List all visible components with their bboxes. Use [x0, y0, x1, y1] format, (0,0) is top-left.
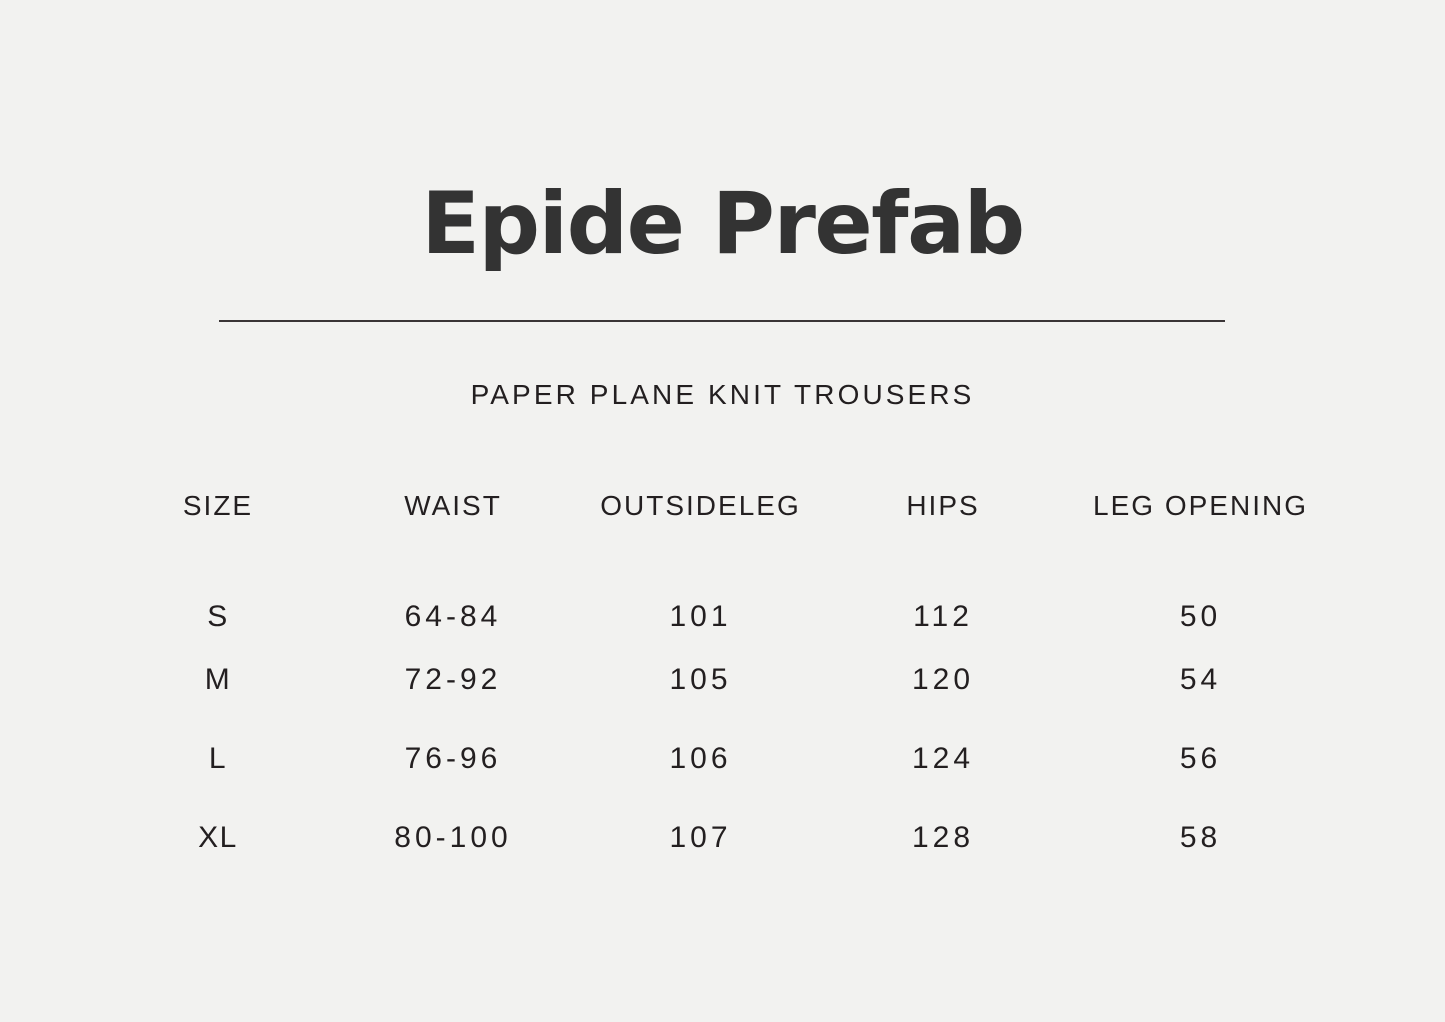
- column-header-leg-opening: LEG OPENING: [1063, 478, 1338, 534]
- title-divider: [219, 320, 1225, 322]
- cell-leg-opening: 58: [1063, 798, 1338, 877]
- column-header-outsideleg: OUTSIDELEG: [578, 478, 823, 534]
- cell-leg-opening: 56: [1063, 719, 1338, 798]
- cell-hips: 128: [823, 798, 1063, 877]
- cell-hips: 120: [823, 640, 1063, 719]
- cell-hips: 124: [823, 719, 1063, 798]
- table-row: S 64-84 101 112 50: [108, 534, 1338, 640]
- column-header-hips: HIPS: [823, 478, 1063, 534]
- cell-waist: 80-100: [328, 798, 578, 877]
- table-header-row: SIZE WAIST OUTSIDELEG HIPS LEG OPENING: [108, 478, 1338, 534]
- cell-outsideleg: 106: [578, 719, 823, 798]
- cell-leg-opening: 50: [1063, 534, 1338, 640]
- cell-outsideleg: 105: [578, 640, 823, 719]
- cell-hips: 112: [823, 534, 1063, 640]
- size-chart-table: SIZE WAIST OUTSIDELEG HIPS LEG OPENING S…: [108, 478, 1338, 877]
- table-row: M 72-92 105 120 54: [108, 640, 1338, 719]
- column-header-size: SIZE: [108, 478, 328, 534]
- table-row: L 76-96 106 124 56: [108, 719, 1338, 798]
- product-subtitle: PAPER PLANE KNIT TROUSERS: [0, 378, 1445, 412]
- cell-size: L: [108, 719, 328, 798]
- cell-waist: 64-84: [328, 534, 578, 640]
- page-title: Epide Prefab: [0, 176, 1445, 272]
- cell-leg-opening: 54: [1063, 640, 1338, 719]
- cell-size: S: [108, 534, 328, 640]
- cell-size: M: [108, 640, 328, 719]
- cell-size: XL: [108, 798, 328, 877]
- cell-waist: 76-96: [328, 719, 578, 798]
- cell-outsideleg: 107: [578, 798, 823, 877]
- cell-outsideleg: 101: [578, 534, 823, 640]
- cell-waist: 72-92: [328, 640, 578, 719]
- column-header-waist: WAIST: [328, 478, 578, 534]
- table-row: XL 80-100 107 128 58: [108, 798, 1338, 877]
- size-chart-page: Epide Prefab PAPER PLANE KNIT TROUSERS S…: [0, 0, 1445, 1022]
